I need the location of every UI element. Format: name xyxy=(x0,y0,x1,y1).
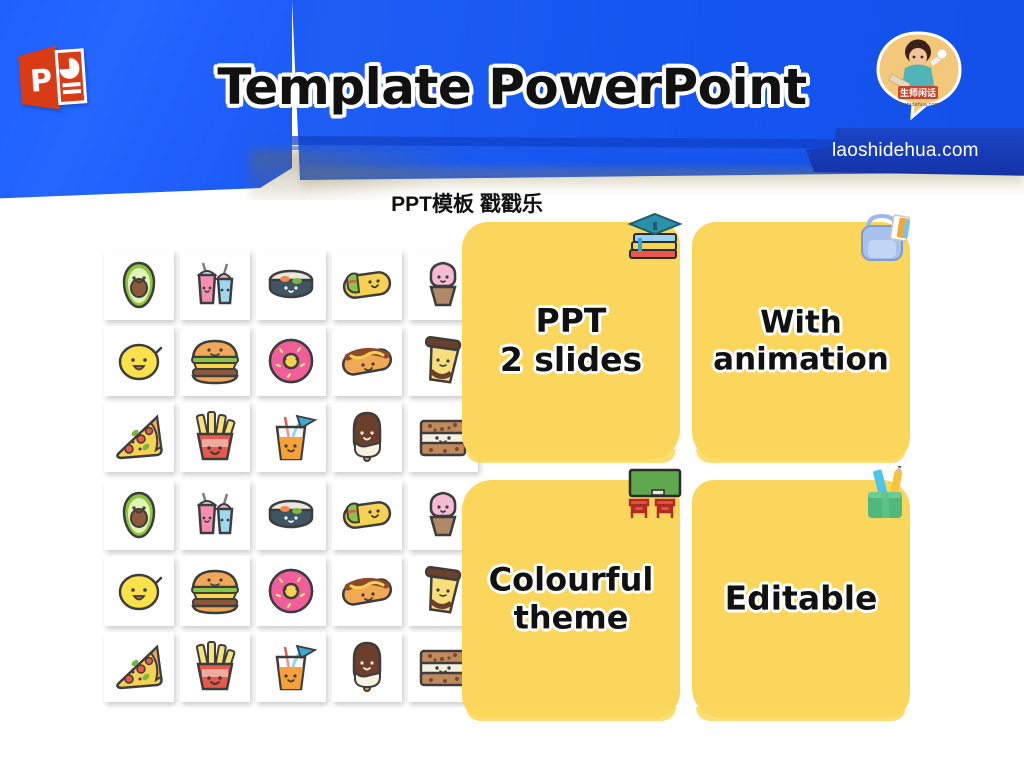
food-grid-cell[interactable] xyxy=(332,556,402,626)
food-grid-cell[interactable] xyxy=(332,326,402,396)
food-grid-cell[interactable] xyxy=(256,402,326,472)
food-grid-cell[interactable] xyxy=(256,250,326,320)
food-icon-grid-bottom xyxy=(104,480,478,702)
food-grid-cell[interactable] xyxy=(332,402,402,472)
subtitle-text: PPT模板 戳戳乐 xyxy=(391,188,543,218)
avocado-icon xyxy=(111,487,167,543)
food-grid-cell[interactable] xyxy=(180,556,250,626)
french-fries-icon xyxy=(187,409,243,465)
food-grid-cell[interactable] xyxy=(256,480,326,550)
feature-cards: PPT 2 slides With animation xyxy=(462,222,922,718)
popsicle-icon xyxy=(339,409,395,465)
graduation-cap-on-books-icon xyxy=(624,208,686,266)
hotdog-icon xyxy=(339,563,395,619)
pizza-slice-icon xyxy=(111,639,167,695)
lemon-icon xyxy=(111,563,167,619)
milkshake-drinks-icon xyxy=(187,487,243,543)
food-grid-cell[interactable] xyxy=(332,480,402,550)
food-grid-cell[interactable] xyxy=(256,326,326,396)
feature-card-label: PPT 2 slides xyxy=(462,302,680,380)
avocado-icon xyxy=(111,257,167,313)
hotdog-icon xyxy=(339,333,395,389)
svg-text:laoshidehua.com: laoshidehua.com xyxy=(897,102,940,108)
food-grid-cell[interactable] xyxy=(104,402,174,472)
feature-card-ppt-slides[interactable]: PPT 2 slides xyxy=(462,222,680,460)
sushi-icon xyxy=(263,257,319,313)
donut-icon xyxy=(263,333,319,389)
sushi-icon xyxy=(263,487,319,543)
feature-card-label: Colourful theme xyxy=(462,561,680,637)
food-grid-cell[interactable] xyxy=(180,632,250,702)
burrito-icon xyxy=(339,487,395,543)
burger-icon xyxy=(187,563,243,619)
header-banner: P 生师闲话 laoshidehua.com xyxy=(0,0,1024,200)
food-grid-cell[interactable] xyxy=(180,250,250,320)
french-fries-icon xyxy=(187,639,243,695)
donut-icon xyxy=(263,563,319,619)
feature-card-colourful-theme[interactable]: Colourful theme xyxy=(462,480,680,718)
blackboard-desks-icon xyxy=(624,466,686,524)
food-grid-cell[interactable] xyxy=(104,632,174,702)
milkshake-drinks-icon xyxy=(187,257,243,313)
pencil-holder-icon xyxy=(854,466,916,524)
popsicle-icon xyxy=(339,639,395,695)
food-grid-cell[interactable] xyxy=(104,480,174,550)
burger-icon xyxy=(187,333,243,389)
food-grid-cell[interactable] xyxy=(256,632,326,702)
powerpoint-logo-icon: P xyxy=(16,40,89,117)
food-grid-cell[interactable] xyxy=(104,326,174,396)
food-grid-cell[interactable] xyxy=(180,326,250,396)
backpack-icon xyxy=(854,208,916,266)
lemon-icon xyxy=(111,333,167,389)
feature-card-animation[interactable]: With animation xyxy=(692,222,910,460)
food-grid-cell[interactable] xyxy=(332,632,402,702)
svg-text:P: P xyxy=(29,63,53,99)
food-grid-cell[interactable] xyxy=(104,556,174,626)
feature-card-editable[interactable]: Editable xyxy=(692,480,910,718)
feature-card-label: With animation xyxy=(692,304,910,377)
juice-glass-icon xyxy=(263,639,319,695)
food-grid-cell[interactable] xyxy=(180,402,250,472)
food-grid-cell[interactable] xyxy=(180,480,250,550)
pizza-slice-icon xyxy=(111,409,167,465)
site-url-label: laoshidehua.com xyxy=(832,140,1024,162)
food-grid-cell[interactable] xyxy=(256,556,326,626)
food-icon-grid-top xyxy=(104,250,478,472)
burrito-icon xyxy=(339,257,395,313)
food-grid-cell[interactable] xyxy=(104,250,174,320)
juice-glass-icon xyxy=(263,409,319,465)
food-grid-cell[interactable] xyxy=(332,250,402,320)
laoshidehua-teacher-logo-icon: 生师闲话 laoshidehua.com xyxy=(872,28,964,120)
feature-card-label: Editable xyxy=(692,580,910,619)
svg-text:生师闲话: 生师闲话 xyxy=(900,87,936,99)
